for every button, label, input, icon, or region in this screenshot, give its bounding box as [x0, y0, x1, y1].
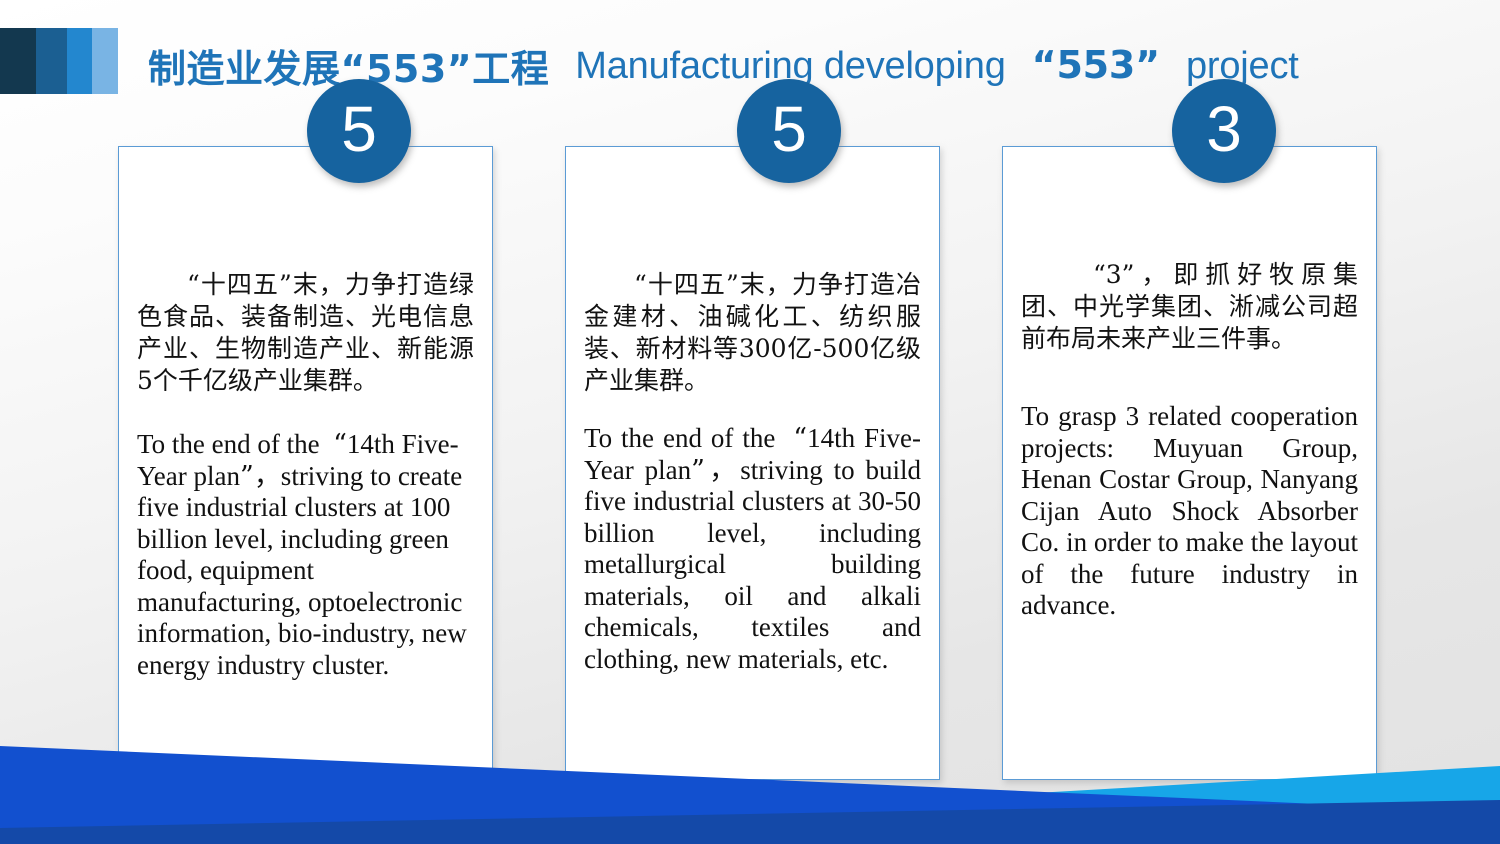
card-badge-number: 5: [737, 79, 841, 183]
card-body: “十四五”末，力争打造冶金建材、油碱化工、纺织服装、新材料等300亿-500亿级…: [566, 147, 939, 676]
card-body: “3”，即抓好牧原集团、中光学集团、淅减公司超前布局未来产业三件事。 To gr…: [1003, 147, 1376, 622]
english-rest: ，striving to build five industrial clust…: [584, 455, 921, 674]
english-close-quote: ”: [691, 455, 705, 486]
card-industrial-clusters-100b[interactable]: 5 “十四五”末，力争打造绿色食品、装备制造、光电信息产业、生物制造产业、新能源…: [118, 146, 493, 780]
wave-dark-blue: [0, 800, 1500, 844]
english-lead: To the end of the: [137, 429, 320, 459]
card-english-paragraph: To the end of the “14th Five-Year plan”，…: [584, 423, 921, 676]
english-lead: To the end of the: [584, 423, 775, 453]
slide-canvas: 制造业发展“553”工程 Manufacturing developing“55…: [0, 0, 1500, 844]
card-chinese-paragraph: “十四五”末，力争打造绿色食品、装备制造、光电信息产业、生物制造产业、新能源5个…: [137, 269, 474, 397]
page-title-english: Manufacturing developing“553”project: [575, 43, 1298, 88]
header-bar-1: [0, 28, 36, 94]
card-future-industry-projects[interactable]: 3 “3”，即抓好牧原集团、中光学集团、淅减公司超前布局未来产业三件事。 To …: [1002, 146, 1377, 780]
english-open-quote: “: [333, 429, 347, 460]
english-rest: ，striving to create five industrial clus…: [137, 461, 467, 680]
header-accent-bars: [0, 28, 118, 94]
card-industrial-clusters-30-50b[interactable]: 5 “十四五”末，力争打造冶金建材、油碱化工、纺织服装、新材料等300亿-500…: [565, 146, 940, 780]
header-bar-4: [92, 28, 118, 94]
english-close-quote: ”: [240, 461, 254, 492]
card-badge-value: 5: [771, 97, 807, 161]
page-title: 制造业发展“553”工程 Manufacturing developing“55…: [148, 36, 1299, 94]
card-chinese-paragraph: “十四五”末，力争打造冶金建材、油碱化工、纺织服装、新材料等300亿-500亿级…: [584, 269, 921, 397]
card-badge-value: 5: [341, 97, 377, 161]
header-bar-3: [67, 28, 92, 94]
page-title-english-quote: “553”: [1032, 43, 1160, 87]
card-english-paragraph: To the end of the “14th Five-Year plan”，…: [137, 429, 474, 682]
card-badge-number: 5: [307, 79, 411, 183]
header-bar-2: [36, 28, 67, 94]
english-open-quote: “: [793, 423, 807, 454]
page-title-english-tail: project: [1186, 45, 1299, 87]
card-badge-value: 3: [1206, 97, 1242, 161]
card-body: “十四五”末，力争打造绿色食品、装备制造、光电信息产业、生物制造产业、新能源5个…: [119, 147, 492, 682]
card-english-paragraph: To grasp 3 related cooperation projects:…: [1021, 401, 1358, 622]
card-badge-number: 3: [1172, 79, 1276, 183]
card-row: 5 “十四五”末，力争打造绿色食品、装备制造、光电信息产业、生物制造产业、新能源…: [118, 146, 1386, 780]
card-chinese-paragraph: “3”，即抓好牧原集团、中光学集团、淅减公司超前布局未来产业三件事。: [1021, 259, 1358, 355]
english-rest: To grasp 3 related cooperation projects:…: [1021, 401, 1358, 620]
